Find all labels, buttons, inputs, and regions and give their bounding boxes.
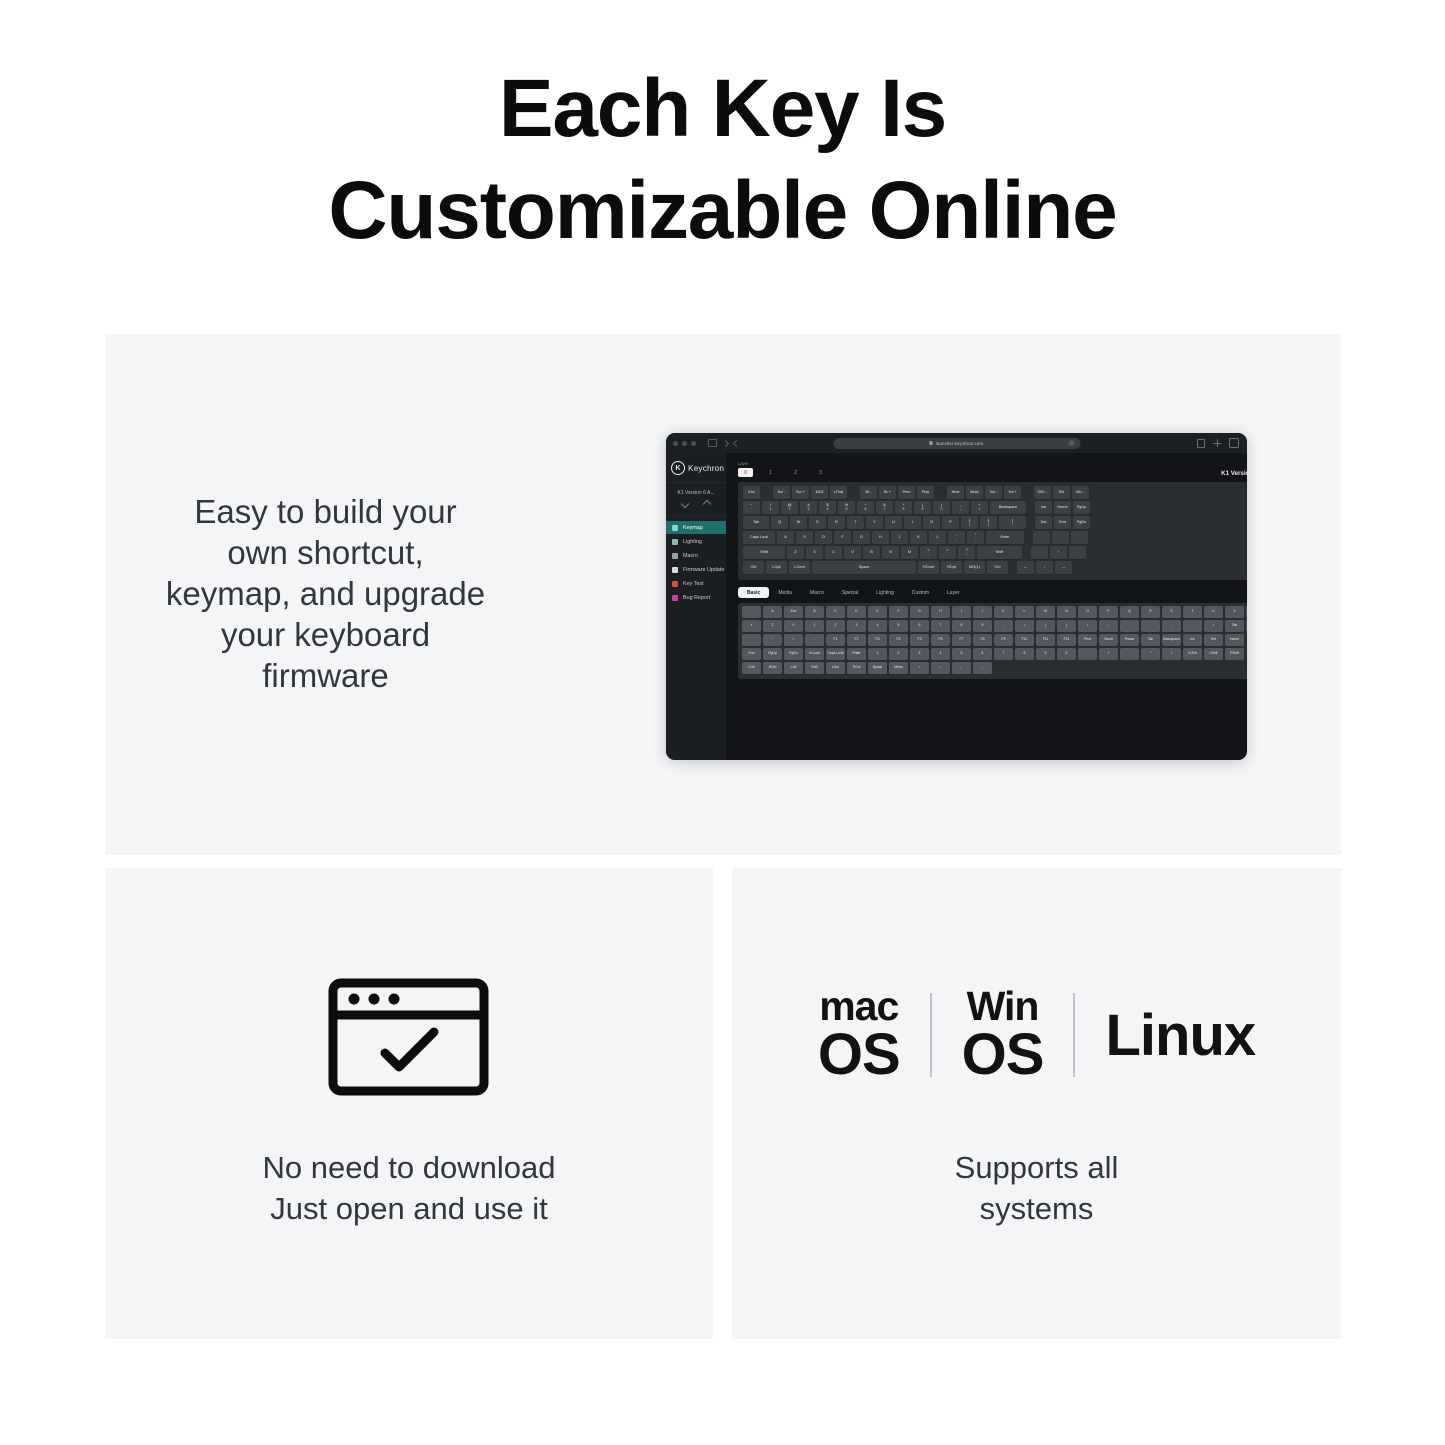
keycode-key[interactable]: 4: [931, 648, 950, 660]
keycode-key[interactable]: U: [1204, 606, 1223, 618]
device-card[interactable]: K1 Version 6 A...: [666, 482, 726, 516]
keyboard-key[interactable]: ^6: [857, 501, 874, 514]
keyboard-key[interactable]: Br +: [879, 486, 896, 499]
app-sidebar: K Keychron K1 Version 6 A... KeymapLight…: [666, 453, 726, 760]
keyboard-key[interactable]: →: [1055, 561, 1072, 574]
keycode-key[interactable]: O: [1078, 606, 1097, 618]
keycode-key[interactable]: 2: [889, 648, 908, 660]
keyboard-key[interactable]: H: [872, 531, 889, 544]
keycode-tab-media[interactable]: Media: [769, 587, 801, 598]
keycode-key[interactable]: `: [742, 634, 761, 646]
keyboard-key[interactable]: %5: [838, 501, 855, 514]
keycode-key[interactable]: -: [805, 634, 824, 646]
keyboard-key[interactable]: ?/: [958, 546, 975, 559]
keyboard-key[interactable]: :;: [948, 531, 965, 544]
keycode-key[interactable]: P: [1099, 606, 1118, 618]
keycode-key[interactable]: Backspace: [1162, 634, 1181, 646]
brand-name: Keychron: [688, 464, 724, 473]
prev-device-icon: [681, 500, 689, 508]
launcher-app-screenshot: launcher.keychron.com K Keychron K1 Vers…: [666, 433, 1247, 760]
product-feature-page: Each Key Is Customizable Online Easy to …: [0, 0, 1445, 1445]
keycode-key[interactable]: 9: [1036, 648, 1055, 660]
divider: [1073, 993, 1075, 1077]
keyboard-key[interactable]: LCmd: [789, 561, 810, 574]
back-icon: [722, 439, 729, 446]
linux-logo: Linux: [1105, 1002, 1255, 1069]
lock-icon: [930, 441, 933, 445]
sidebar-item-key-test[interactable]: Key Test: [666, 577, 726, 590]
keycode-key[interactable]: K: [994, 606, 1013, 618]
keycode-key[interactable]: Scroll: [1099, 634, 1118, 646]
keycode-key[interactable]: 1: [805, 620, 824, 632]
keyboard-key[interactable]: [1052, 531, 1069, 544]
keycode-key[interactable]: Tab: [1141, 634, 1160, 646]
keyboard-key[interactable]: U: [885, 516, 902, 529]
copy-line: keymap, and upgrade: [133, 574, 518, 615]
keyboard-key[interactable]: V: [844, 546, 861, 559]
keycode-key[interactable]: F12: [1057, 634, 1076, 646]
app-main: Layer 0123 K1 Version 6 ANSI RGB EscScr …: [726, 453, 1247, 760]
keyboard-key[interactable]: RCmd: [918, 561, 939, 574]
windows-logo: Win OS: [962, 987, 1044, 1082]
keycode-key[interactable]: +: [1099, 648, 1118, 660]
keyboard-key[interactable]: Y: [866, 516, 883, 529]
sidebar-item-bug-report[interactable]: Bug Report: [666, 591, 726, 604]
keyboard-key[interactable]: Play: [917, 486, 934, 499]
keycode-tab-macro[interactable]: Macro: [801, 587, 833, 598]
keyboard-layout[interactable]: EscScr -Scr +MCtlLPadBr -Br +PrevPlayNex…: [738, 482, 1247, 580]
keycode-tab-lighting[interactable]: Lighting: [867, 587, 903, 598]
keycode-key[interactable]: 6: [910, 620, 929, 632]
keycode-key[interactable]: LShft: [1204, 648, 1223, 660]
key-gap: [1028, 516, 1033, 529]
keycode-key[interactable]: RShft: [1225, 648, 1244, 660]
copy-line: own shortcut,: [133, 533, 518, 574]
keycode-key[interactable]: F5: [910, 634, 929, 646]
keychron-brand: K Keychron: [666, 457, 726, 482]
keycode-key[interactable]: 9: [973, 620, 992, 632]
keyboard-row: EscScr -Scr +MCtlLPadBr -Br +PrevPlayNex…: [743, 486, 1247, 499]
keycode-key[interactable]: Enter: [847, 648, 866, 660]
feature-card-bottom-left: [105, 868, 713, 1339]
keyboard-key[interactable]: Next: [947, 486, 964, 499]
keycode-key[interactable]: C: [826, 606, 845, 618]
sidebar-item-label: Lighting: [683, 539, 702, 545]
keycode-key[interactable]: Q: [1120, 606, 1139, 618]
keycode-key[interactable]: F4: [889, 634, 908, 646]
keycode-key[interactable]: Caps Lock: [826, 648, 845, 660]
keyboard-key[interactable]: !1: [762, 501, 779, 514]
keycode-key[interactable]: 8: [952, 620, 971, 632]
sidebar-icon: [672, 525, 678, 531]
keycode-key[interactable]: Y: [742, 620, 761, 632]
keyboard-key[interactable]: +=: [971, 501, 988, 514]
keycode-key[interactable]: →: [973, 662, 992, 674]
keyboard-row: TabQWERTYUIOP{[}]|\DelEndPgDn: [743, 516, 1247, 529]
keycode-key[interactable]: 5: [889, 620, 908, 632]
keyboard-row: Caps LockASDFGHJKL:;"'Enter: [743, 531, 1247, 544]
keycode-key[interactable]: H: [931, 606, 950, 618]
keyboard-key[interactable]: B: [863, 546, 880, 559]
keyboard-key[interactable]: Space: [812, 561, 916, 574]
keyboard-key[interactable]: S: [796, 531, 813, 544]
sidebar-item-keymap[interactable]: Keymap: [666, 521, 726, 534]
keycode-key[interactable]: R: [1141, 606, 1160, 618]
keyboard-key[interactable]: Siri: [1053, 486, 1070, 499]
keycode-key[interactable]: Menu: [889, 662, 908, 674]
keyboard-row: CtrlLOptLCmdSpaceRCmdROptMO(1)Ctrl←↓→: [743, 561, 1247, 574]
keycode-row: YZ0123456789-=[]\;'`,./TabCapsEnt: [742, 620, 1247, 632]
keyboard-key[interactable]: E: [809, 516, 826, 529]
keyboard-key[interactable]: ↑: [1050, 546, 1067, 559]
keycode-key[interactable]: Esc: [784, 606, 803, 618]
keyboard-key[interactable]: D: [815, 531, 832, 544]
keycode-key[interactable]: F11: [1036, 634, 1055, 646]
keyboard-key[interactable]: Scr -: [773, 486, 790, 499]
keycode-key[interactable]: N: [1057, 606, 1076, 618]
keyboard-key[interactable]: PgUp: [1073, 501, 1090, 514]
keycode-key[interactable]: RAlt: [805, 662, 824, 674]
keycode-key[interactable]: LAlt: [784, 662, 803, 674]
sidebar-item-firmware-update[interactable]: Firmware Update: [666, 563, 726, 576]
keyboard-key[interactable]: "': [967, 531, 984, 544]
keyboard-key[interactable]: Br -: [860, 486, 877, 499]
keycode-key[interactable]: 8: [1015, 648, 1034, 660]
layer-selector[interactable]: Layer 0123: [738, 461, 828, 477]
keycode-key[interactable]: L: [1015, 606, 1034, 618]
keycode-key[interactable]: .: [1183, 620, 1202, 632]
keyboard-key[interactable]: N: [882, 546, 899, 559]
browser-toolbar: launcher.keychron.com: [666, 433, 1247, 453]
keycode-key[interactable]: Caps: [1246, 620, 1247, 632]
keycode-key[interactable]: 3: [910, 648, 929, 660]
keycode-key[interactable]: F8: [973, 634, 992, 646]
keyboard-key[interactable]: Vol +: [1004, 486, 1021, 499]
tab-overview-icon[interactable]: [1229, 438, 1239, 448]
keyboard-key[interactable]: |\: [999, 516, 1026, 529]
keycode-key[interactable]: ,: [1162, 620, 1181, 632]
keyboard-key[interactable]: Tab: [743, 516, 769, 529]
keycode-tab-custom[interactable]: Custom: [903, 587, 938, 598]
keycode-key[interactable]: PgDn: [784, 648, 803, 660]
keycode-key[interactable]: Space: [868, 662, 887, 674]
keyboard-key[interactable]: R: [828, 516, 845, 529]
keycode-key[interactable]: J: [973, 606, 992, 618]
keyboard-key[interactable]: ←: [1017, 561, 1034, 574]
sidebar-icon: [672, 595, 678, 601]
keycode-key[interactable]: W: [1246, 606, 1247, 618]
keyboard-key[interactable]: F: [834, 531, 851, 544]
keyboard-key[interactable]: M: [901, 546, 918, 559]
keycode-key[interactable]: V: [1225, 606, 1244, 618]
keyboard-key[interactable]: ↓: [1036, 561, 1053, 574]
keycode-key[interactable]: ~: [763, 634, 782, 646]
keyboard-key[interactable]: [1033, 531, 1050, 544]
keyboard-key[interactable]: Shift: [743, 546, 785, 559]
address-bar[interactable]: launcher.keychron.com: [833, 438, 1080, 449]
keyboard-key[interactable]: MO(1): [964, 561, 985, 574]
keyboard-key[interactable]: Shift: [977, 546, 1022, 559]
keycode-row: AEscBCDEFGHIJKLMNOPQRSTUVWX: [742, 606, 1247, 618]
keyboard-key[interactable]: _-: [952, 501, 969, 514]
os-support-logos: mac OS Win OS Linux: [732, 975, 1341, 1095]
keyboard-key[interactable]: [1069, 546, 1086, 559]
bottom-right-caption: Supports all systems: [732, 1148, 1341, 1230]
keycode-key[interactable]: /: [1204, 620, 1223, 632]
keycode-key[interactable]: E: [868, 606, 887, 618]
keycode-key[interactable]: End: [742, 648, 761, 660]
key-gap: [1028, 501, 1033, 514]
keycode-key[interactable]: F3: [868, 634, 887, 646]
layer-tab-1[interactable]: 1: [763, 470, 778, 476]
sidebar-item-label: Key Test: [683, 581, 704, 587]
keycode-key[interactable]: F7: [952, 634, 971, 646]
layer-tab-2[interactable]: 2: [788, 470, 803, 476]
keyboard-key[interactable]: X: [806, 546, 823, 559]
keyboard-key[interactable]: *8: [895, 501, 912, 514]
keyboard-key[interactable]: Vol -: [985, 486, 1002, 499]
keycode-category-tabs[interactable]: BasicMediaMacroSpecialLightingCustomLaye…: [738, 587, 1247, 598]
sidebar-icon: [672, 539, 678, 545]
layer-tabs[interactable]: 0123: [738, 468, 828, 477]
keyboard-key[interactable]: O: [923, 516, 940, 529]
sidebar-item-label: Firmware Update: [683, 567, 724, 573]
keyboard-key[interactable]: Z: [787, 546, 804, 559]
copy-line: your keyboard: [133, 615, 518, 656]
keycode-key[interactable]: 6: [973, 648, 992, 660]
sidebar-icon: [708, 439, 717, 447]
keycode-key[interactable]: [742, 606, 761, 618]
keycode-key[interactable]: *: [1141, 648, 1160, 660]
keyboard-model-title: K1 Version 6 ANSI RGB: [1221, 470, 1247, 477]
keycode-key[interactable]: /: [1162, 648, 1181, 660]
keyboard-key[interactable]: Backspace: [990, 501, 1026, 514]
keyboard-key[interactable]: $4: [819, 501, 836, 514]
keycode-key[interactable]: S: [1162, 606, 1181, 618]
copy-line: Easy to build your: [133, 492, 518, 533]
keyboard-key[interactable]: Scr +: [792, 486, 809, 499]
keycode-key[interactable]: 2: [826, 620, 845, 632]
forward-icon: [733, 439, 740, 446]
keycode-key[interactable]: RGui: [847, 662, 866, 674]
keyboard-key[interactable]: LOpt: [766, 561, 787, 574]
keycode-key[interactable]: LGui: [826, 662, 845, 674]
keyboard-key[interactable]: [1071, 531, 1088, 544]
keycode-key[interactable]: `: [1141, 620, 1160, 632]
keyboard-key[interactable]: Mute: [966, 486, 983, 499]
sidebar-item-lighting[interactable]: Lighting: [666, 535, 726, 548]
keycode-key[interactable]: .: [1078, 648, 1097, 660]
keyboard-key[interactable]: Del: [1035, 516, 1052, 529]
keyboard-key[interactable]: A: [777, 531, 794, 544]
sidebar-icon: [672, 581, 678, 587]
keycode-picker-grid[interactable]: AEscBCDEFGHIJKLMNOPQRSTUVWXYZ0123456789-…: [738, 603, 1247, 679]
copy-line: firmware: [133, 656, 518, 697]
keyboard-key[interactable]: &7: [876, 501, 893, 514]
keycode-key[interactable]: ;: [1099, 620, 1118, 632]
keyboard-key[interactable]: Q: [771, 516, 788, 529]
device-actions[interactable]: [671, 501, 721, 507]
keyboard-key[interactable]: Ctrl: [743, 561, 764, 574]
feature-card-bottom-right: [732, 868, 1341, 1339]
keycode-tab-basic[interactable]: Basic: [738, 587, 769, 598]
keyboard-key[interactable]: Esc: [743, 486, 760, 499]
keyboard-key[interactable]: >.: [939, 546, 956, 559]
keycode-key[interactable]: RCtrl: [763, 662, 782, 674]
keyboard-key[interactable]: (9: [914, 501, 931, 514]
browser-right-icons[interactable]: [1197, 438, 1239, 448]
keycode-key[interactable]: F10: [1015, 634, 1034, 646]
keyboard-key[interactable]: #3: [800, 501, 817, 514]
keyboard-key[interactable]: K: [910, 531, 927, 544]
new-tab-icon[interactable]: [1213, 439, 1221, 447]
keycode-key[interactable]: B: [805, 606, 824, 618]
keycode-key[interactable]: 7: [994, 648, 1013, 660]
keycode-key[interactable]: N.Lock: [805, 648, 824, 660]
keycode-key[interactable]: 4: [868, 620, 887, 632]
keyboard-row: ~`!1@2#3$4%5^6&7*8(9)0_-+=BackspaceInsHo…: [743, 501, 1247, 514]
keyboard-key[interactable]: W: [790, 516, 807, 529]
keycode-key[interactable]: Del: [1204, 634, 1223, 646]
reload-icon[interactable]: [1068, 440, 1074, 446]
sidebar-nav[interactable]: KeymapLightingMacroFirmware UpdateKey Te…: [666, 516, 726, 604]
keycode-key[interactable]: -: [1120, 648, 1139, 660]
keycode-key[interactable]: ↓: [931, 662, 950, 674]
layer-tab-3[interactable]: 3: [813, 470, 828, 476]
sidebar-icon: [672, 567, 678, 573]
keyboard-key[interactable]: Ins: [1035, 501, 1052, 514]
keycode-key[interactable]: 7: [931, 620, 950, 632]
keycode-key[interactable]: T: [1183, 606, 1202, 618]
keycode-key[interactable]: Pause: [1120, 634, 1139, 646]
keycode-row: LCtrlRCtrlLAltRAltLGuiRGuiSpaceMenu↑↓←→: [742, 662, 1247, 674]
key-gap: [1026, 531, 1031, 544]
keycode-key[interactable]: Print: [1078, 634, 1097, 646]
device-name: K1 Version 6 A...: [671, 490, 721, 496]
keyboard-key[interactable]: }]: [980, 516, 997, 529]
keyboard-key[interactable]: MCtl: [811, 486, 828, 499]
keyboard-key[interactable]: T: [847, 516, 864, 529]
key-gap: [1010, 561, 1015, 574]
keyboard-key[interactable]: G: [853, 531, 870, 544]
keyboard-key[interactable]: P: [942, 516, 959, 529]
keyboard-key[interactable]: I: [904, 516, 921, 529]
keyboard-key[interactable]: Ctrl: [987, 561, 1008, 574]
layer-caption: Layer: [738, 461, 828, 466]
keycode-key[interactable]: Home: [1225, 634, 1244, 646]
keycode-key[interactable]: LCtrl: [742, 662, 761, 674]
keyboard-key[interactable]: Enter: [986, 531, 1024, 544]
keycode-key[interactable]: ↑: [910, 662, 929, 674]
keycode-key[interactable]: 3: [847, 620, 866, 632]
next-device-icon: [703, 500, 711, 508]
keycode-key[interactable]: 0: [784, 620, 803, 632]
url-text: launcher.keychron.com: [936, 441, 983, 446]
keycode-key[interactable]: =: [1015, 620, 1034, 632]
keyboard-key[interactable]: ~`: [743, 501, 760, 514]
keycode-key[interactable]: \: [1078, 620, 1097, 632]
keycode-key[interactable]: ]: [1057, 620, 1076, 632]
keycode-key[interactable]: N.Ent: [1183, 648, 1202, 660]
top-card-copy: Easy to build your own shortcut, keymap,…: [133, 492, 518, 697]
keycode-key[interactable]: M: [1036, 606, 1055, 618]
keycode-key[interactable]: [: [1036, 620, 1055, 632]
keycode-key[interactable]: F1: [826, 634, 845, 646]
keyboard-key[interactable]: @2: [781, 501, 798, 514]
keyboard-key[interactable]: Mo...: [1072, 486, 1089, 499]
keycode-key[interactable]: F: [889, 606, 908, 618]
caption-line: No need to download: [105, 1148, 713, 1189]
keycode-key[interactable]: Tab: [1225, 620, 1244, 632]
keyboard-key[interactable]: Home: [1054, 501, 1071, 514]
keycode-tab-layer[interactable]: Layer: [938, 587, 969, 598]
keycode-key[interactable]: Ins: [1183, 634, 1202, 646]
keycode-key[interactable]: I: [952, 606, 971, 618]
keycode-key[interactable]: D: [847, 606, 866, 618]
keyboard-key[interactable]: [1031, 546, 1048, 559]
layer-tab-0[interactable]: 0: [738, 468, 753, 477]
keycode-key[interactable]: F6: [931, 634, 950, 646]
page-title: Each Key Is Customizable Online: [0, 58, 1445, 261]
caption-line: Supports all: [732, 1148, 1341, 1189]
sidebar-item-macro[interactable]: Macro: [666, 549, 726, 562]
keycode-key[interactable]: F9: [994, 634, 1013, 646]
sidebar-item-label: Keymap: [683, 525, 703, 531]
keyboard-key[interactable]: C: [825, 546, 842, 559]
keyboard-key[interactable]: PgDn: [1073, 516, 1090, 529]
sidebar-item-label: Bug Report: [683, 595, 710, 601]
keyboard-key[interactable]: End: [1054, 516, 1071, 529]
keyboard-key[interactable]: L: [929, 531, 946, 544]
keyboard-key[interactable]: J: [891, 531, 908, 544]
key-gap: [1023, 486, 1032, 499]
keycode-key[interactable]: A: [763, 606, 782, 618]
traffic-lights[interactable]: [673, 441, 696, 446]
keycode-key[interactable]: G: [910, 606, 929, 618]
keycode-key[interactable]: 5: [952, 648, 971, 660]
keyboard-key[interactable]: <,: [920, 546, 937, 559]
keycode-key[interactable]: =: [784, 634, 803, 646]
keycode-key[interactable]: F2: [847, 634, 866, 646]
macos-logo: mac OS: [818, 987, 900, 1082]
keycode-key[interactable]: 1: [868, 648, 887, 660]
share-icon[interactable]: [1197, 439, 1205, 448]
app-body: K Keychron K1 Version 6 A... KeymapLight…: [666, 453, 1247, 760]
keycode-key[interactable]: -: [994, 620, 1013, 632]
keyboard-key[interactable]: )0: [933, 501, 950, 514]
headline-line-1: Each Key Is: [0, 58, 1445, 160]
keyboard-row: ShiftZXCVBNM<,>.?/Shift↑: [743, 546, 1247, 559]
keycode-tab-special[interactable]: Special: [833, 587, 867, 598]
keychron-logo-icon: K: [671, 461, 685, 475]
keycode-key[interactable]: PgUp: [763, 648, 782, 660]
keycode-key[interactable]: 0: [1057, 648, 1076, 660]
browser-nav-icons[interactable]: [708, 439, 739, 447]
keycode-row: `~=-F1F2F3F4F5F6F7F8F9F10F11F12PrintScro…: [742, 634, 1247, 646]
keycode-row: EndPgUpPgDnN.LockCaps LockEnter123456789…: [742, 648, 1247, 660]
keyboard-key[interactable]: Caps Lock: [743, 531, 775, 544]
keycode-key[interactable]: ←: [952, 662, 971, 674]
keycode-key[interactable]: ': [1120, 620, 1139, 632]
keyboard-key[interactable]: ROpt: [941, 561, 962, 574]
layer-row: Layer 0123 K1 Version 6 ANSI RGB: [738, 461, 1247, 477]
keyboard-key[interactable]: SSh...: [1034, 486, 1051, 499]
key-gap: [849, 486, 858, 499]
keyboard-key[interactable]: {[: [961, 516, 978, 529]
keyboard-key[interactable]: LPad: [830, 486, 847, 499]
keyboard-key[interactable]: Prev: [898, 486, 915, 499]
keycode-key[interactable]: Z: [763, 620, 782, 632]
